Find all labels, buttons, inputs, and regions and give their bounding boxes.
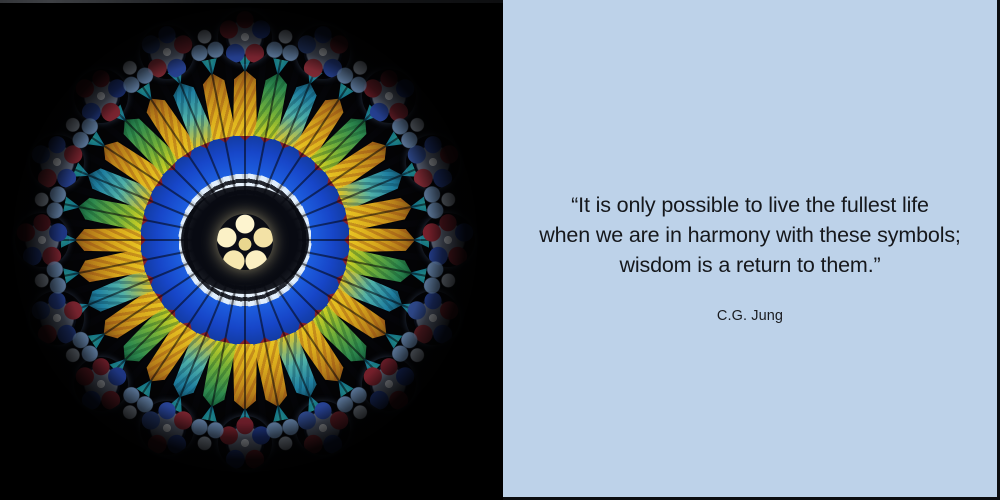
trefoil-tracery (421, 181, 461, 221)
trefoil-tracery (264, 24, 304, 64)
foliage-petal (75, 227, 141, 253)
quote-panel: “It is only possible to live the fullest… (503, 0, 997, 497)
presentation-slide: “It is only possible to live the fullest… (0, 0, 1000, 500)
trefoil-tracery (264, 416, 304, 456)
quote-line-1: “It is only possible to live the fullest… (517, 190, 983, 220)
trefoil-tracery (421, 259, 461, 299)
trefoil-tracery (29, 259, 69, 299)
trefoil-tracery (186, 416, 226, 456)
quote-line-3: wisdom is a return to them.” (517, 250, 983, 280)
central-rosette-icon (217, 214, 273, 270)
rose-window-graphic (13, 8, 477, 472)
quote-block: “It is only possible to live the fullest… (503, 190, 997, 326)
quote-attribution: C.G. Jung (517, 307, 983, 326)
trefoil-tracery (186, 24, 226, 64)
trefoil-tracery (29, 181, 69, 221)
rose-window-photo (0, 0, 503, 500)
slide-top-edge (0, 0, 503, 3)
quote-line-2: when we are in harmony with these symbol… (517, 220, 983, 250)
